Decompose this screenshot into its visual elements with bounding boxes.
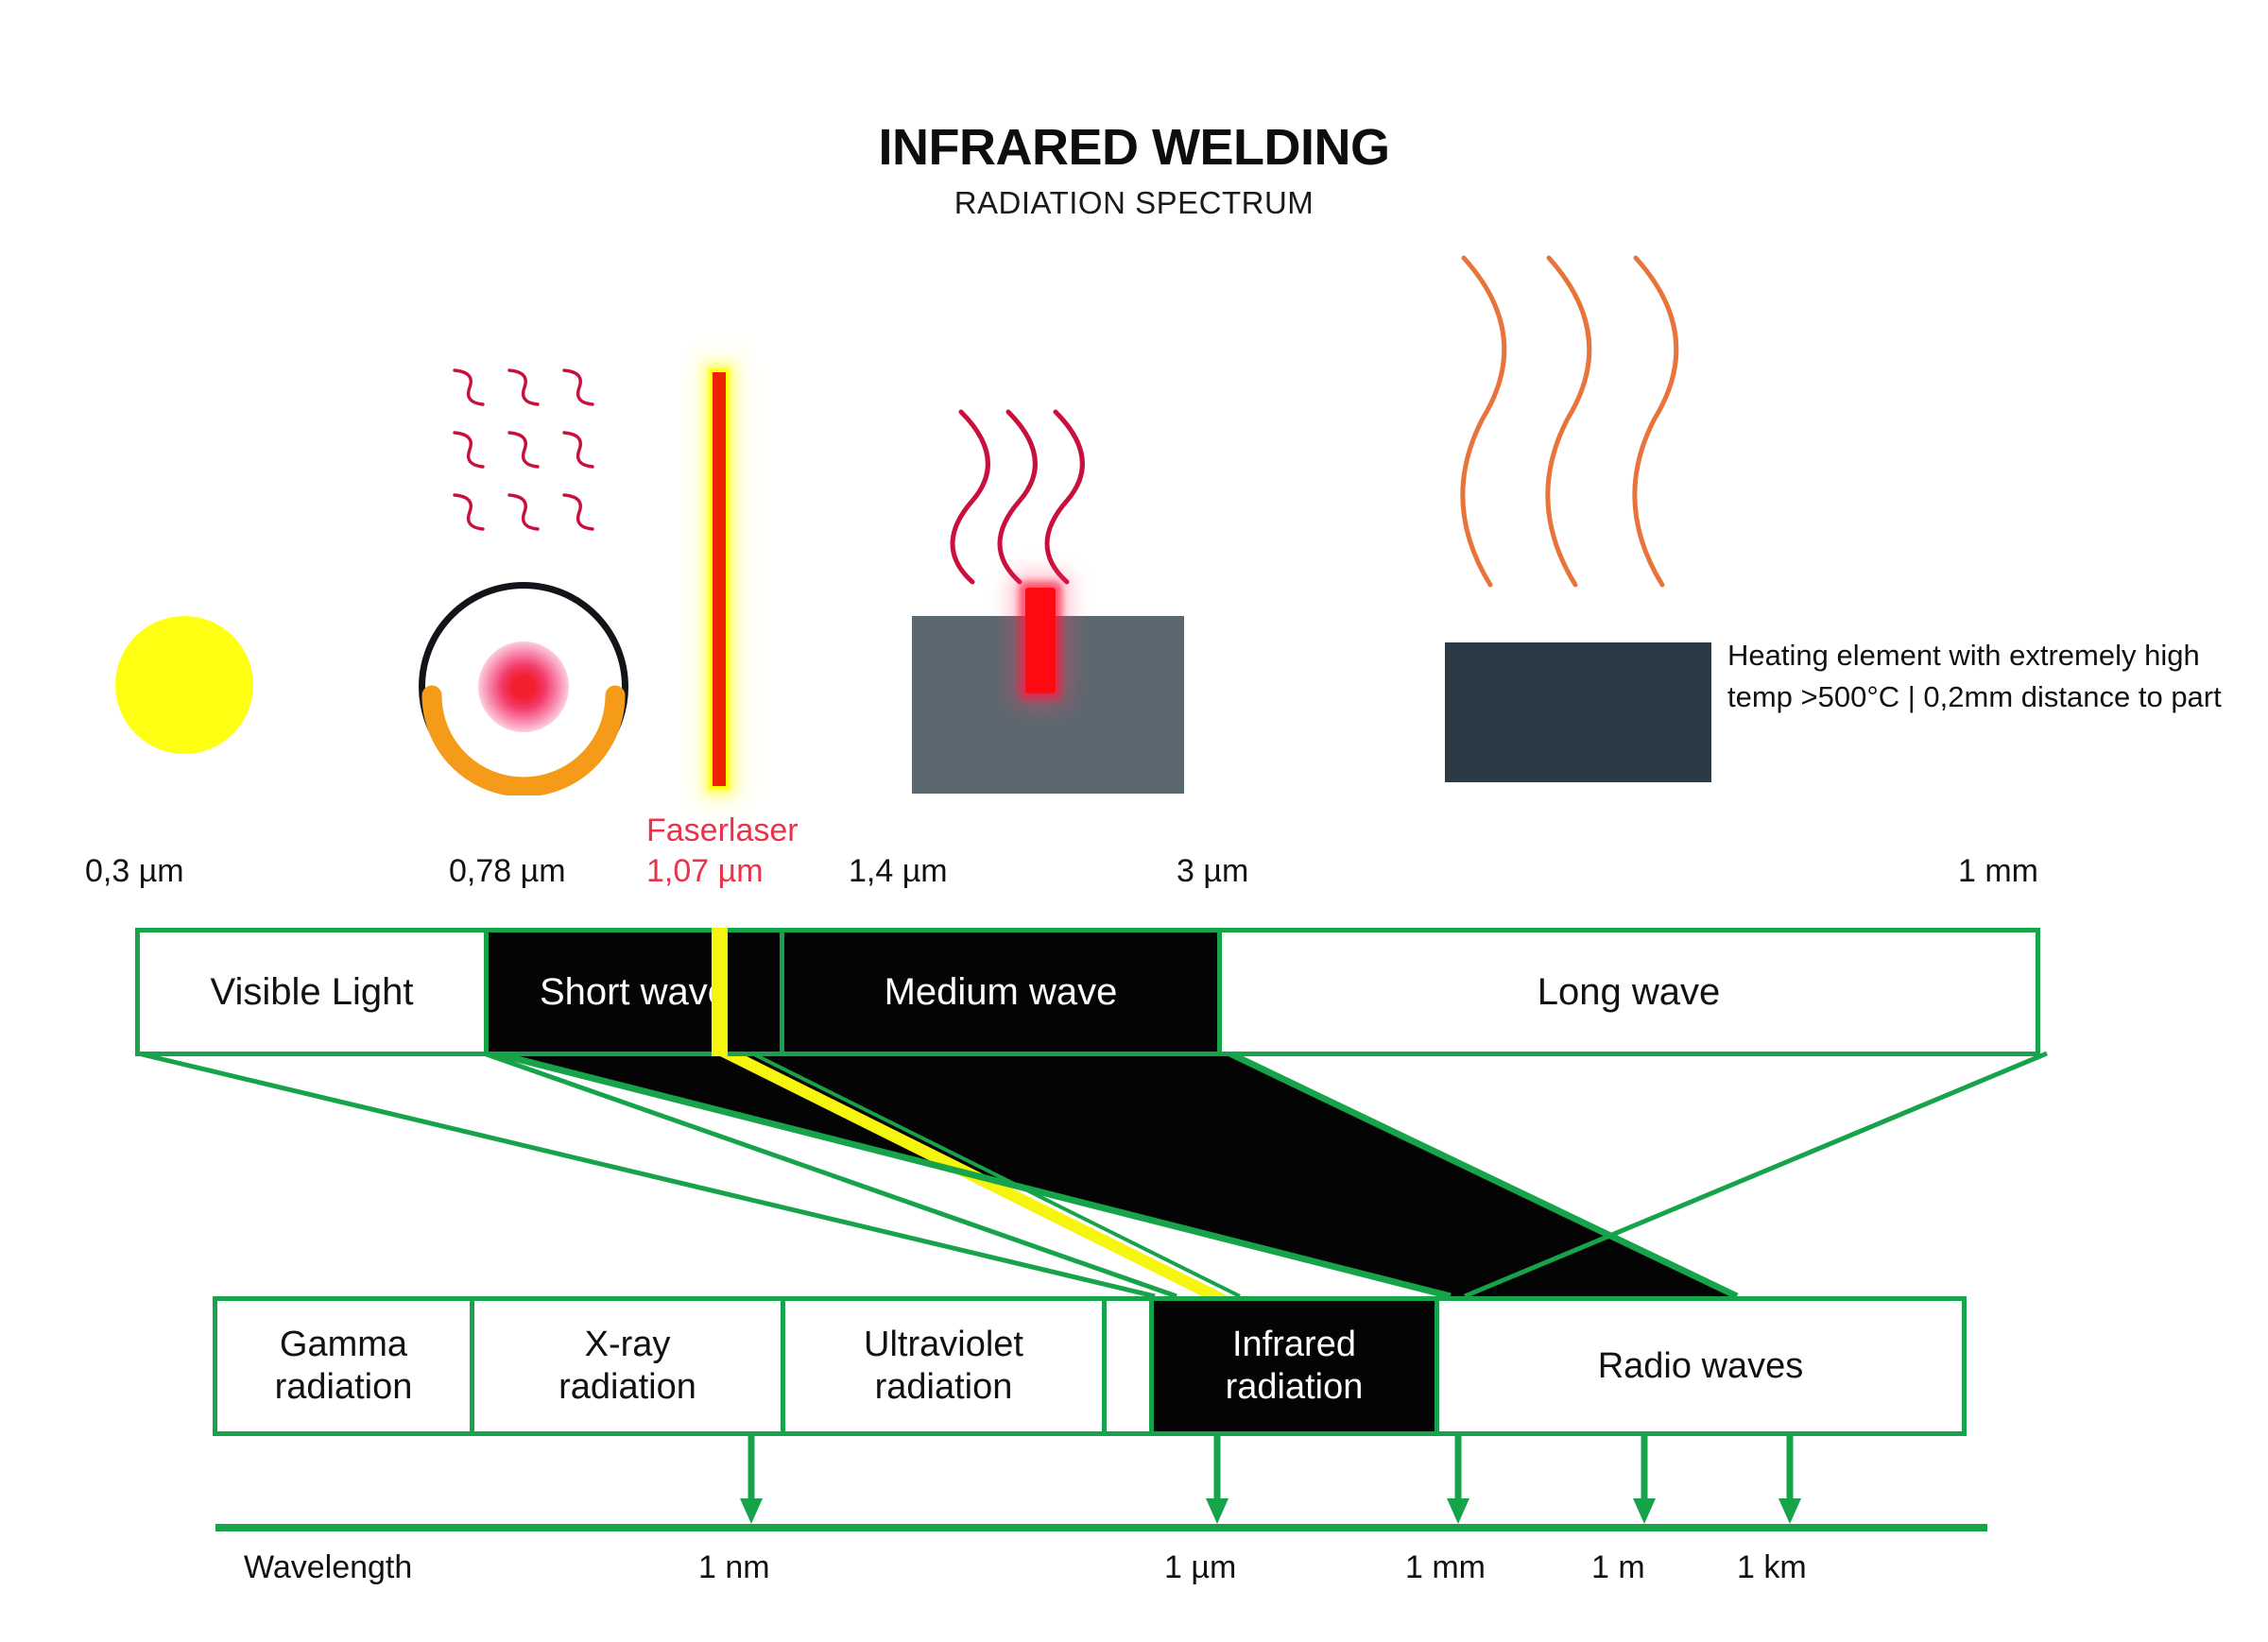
wavelength-axis-line: [215, 1524, 1987, 1531]
axis-tick-label: 1 µm: [1164, 1549, 1236, 1586]
zigzag-wave-icon: [560, 491, 598, 533]
diagram-canvas: INFRARED WELDING RADIATION SPECTRUM: [0, 0, 2268, 1642]
sun-icon: [47, 548, 321, 822]
wavelength-marker: 0,3 µm: [85, 853, 184, 890]
heating-element-icon: [1422, 250, 1800, 803]
zigzag-wave-icon: [560, 429, 598, 470]
axis-title: Wavelength: [244, 1549, 412, 1586]
band-cell: Ultravioletradiation: [781, 1296, 1107, 1436]
axis-tick-label: 1 nm: [698, 1549, 770, 1586]
glowing-emitter-rod: [1025, 588, 1056, 693]
wavelength-marker: 1,07 µm: [646, 853, 764, 890]
axis-tick-label: 1 mm: [1405, 1549, 1486, 1586]
zigzag-wave-icon: [451, 491, 489, 533]
band-cell-blank: [1102, 1296, 1154, 1436]
electromagnetic-band: GammaradiationX-rayradiationUltravioletr…: [213, 1296, 1985, 1436]
band-cell: X-rayradiation: [470, 1296, 785, 1436]
wavelength-marker: 3 µm: [1177, 853, 1248, 890]
guide-line-ir-right: [1224, 1051, 1737, 1296]
guide-line-visible-right: [484, 1053, 1177, 1296]
heat-wave-icon: [1012, 406, 1114, 588]
heated-part-icon: [912, 406, 1224, 794]
long-heat-wave-icon: [1607, 250, 1728, 592]
page-title: INFRARED WELDING: [0, 118, 2268, 177]
zigzag-wave-icon: [560, 367, 598, 408]
page-subtitle: RADIATION SPECTRUM: [0, 185, 2268, 221]
band-cell: Visible Light: [135, 928, 489, 1056]
laser-band-overlay: [712, 928, 728, 1056]
short-wave-zigzag-group: [451, 367, 602, 546]
halogen-lamp-icon: [402, 367, 647, 811]
wavelength-marker: 0,78 µm: [449, 853, 566, 890]
guide-line-ir-thin: [747, 1051, 1240, 1296]
laser-source-label: Faserlaser: [646, 812, 799, 849]
bulb-filament-glow: [478, 641, 569, 732]
zigzag-wave-icon: [506, 429, 543, 470]
laser-path-trace: [709, 1051, 1228, 1296]
zigzag-wave-icon: [451, 367, 489, 408]
zigzag-wave-icon: [506, 367, 543, 408]
heater-note-text: Heating element with extremely high temp…: [1727, 635, 2257, 718]
band-cell: Gammaradiation: [213, 1296, 474, 1436]
lamp-bulb: [419, 582, 628, 792]
band-cell: Infraredradiation: [1149, 1296, 1439, 1436]
wavelength-marker: 1,4 µm: [849, 853, 948, 890]
axis-tick-label: 1 km: [1737, 1549, 1807, 1586]
wavelength-marker: 1 mm: [1958, 853, 2038, 890]
infrared-band: Visible LightShort waveMedium waveLong w…: [135, 928, 2050, 1056]
axis-tick-arrows: [740, 1436, 1801, 1524]
zigzag-wave-icon: [451, 429, 489, 470]
infrared-region-wedge: [484, 1051, 1737, 1296]
axis-tick-label: 1 m: [1591, 1549, 1645, 1586]
band-cell: Medium wave: [780, 928, 1222, 1056]
band-cell: Long wave: [1217, 928, 2040, 1056]
laser-beam-icon: [713, 372, 726, 786]
guide-line-visible-left: [138, 1053, 1155, 1296]
heater-plate: [1445, 642, 1711, 782]
band-cell: Short wave: [484, 928, 784, 1056]
zigzag-wave-icon: [506, 491, 543, 533]
guide-line-ir-left: [484, 1051, 1451, 1296]
guide-line-long-right: [1465, 1053, 2047, 1296]
band-cell: Radio waves: [1435, 1296, 1967, 1436]
